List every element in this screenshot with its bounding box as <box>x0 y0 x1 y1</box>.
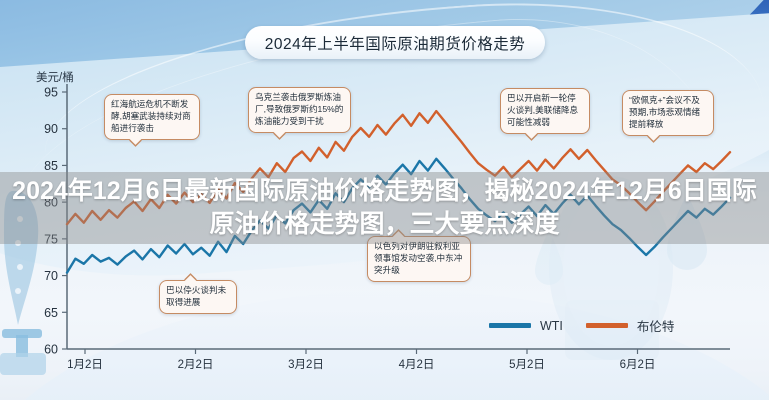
svg-text:95: 95 <box>44 86 58 100</box>
annotation-text: 巴以开启新一轮停火谈判,美联储降息可能性减弱 <box>507 93 578 127</box>
svg-text:60: 60 <box>44 343 58 357</box>
svg-text:70: 70 <box>44 269 58 283</box>
svg-text:4月2日: 4月2日 <box>399 359 435 371</box>
annotation-text: 以色列对伊朗驻叙利亚领事馆发动空袭,中东冲突升级 <box>374 241 462 275</box>
svg-text:6月2日: 6月2日 <box>620 359 656 371</box>
svg-text:90: 90 <box>44 122 58 136</box>
svg-text:5月2日: 5月2日 <box>509 359 545 371</box>
chart-legend: WTI 布伦特 <box>489 316 688 335</box>
overlay-headline: 2024年12月6日最新国际原油价格走势图，揭秘2024年12月6日国际原油价格… <box>0 172 769 244</box>
legend-swatch-wti <box>489 323 531 328</box>
svg-text:65: 65 <box>44 306 58 320</box>
annotation-text: 乌克兰袭击俄罗斯炼油厂,导致俄罗斯约15%的炼油能力受到干扰 <box>255 92 343 126</box>
annotation-text: 红海航运危机不断发酵,胡塞武装持续对商船进行袭击 <box>111 99 191 133</box>
annotation-text: “欧佩克+”会议不及预期,市场悲观情绪提前释放 <box>629 95 700 129</box>
annotation-text: 巴以停火谈判未取得进展 <box>166 285 226 307</box>
screenshot-root: 2024年上半年国际原油期货价格走势 美元/桶 6065707580859095… <box>0 0 769 400</box>
annotation-opec-meeting: “欧佩克+”会议不及预期,市场悲观情绪提前释放 <box>622 90 714 136</box>
svg-text:2月2日: 2月2日 <box>178 359 214 371</box>
legend-label-wti: WTI <box>540 319 563 333</box>
annotation-ceasefire-no-progress: 巴以停火谈判未取得进展 <box>159 280 237 314</box>
legend-label-brent: 布伦特 <box>637 316 675 335</box>
annotation-ukraine-refinery-strike: 乌克兰袭击俄罗斯炼油厂,导致俄罗斯约15%的炼油能力受到干扰 <box>248 87 351 133</box>
legend-swatch-brent <box>586 323 628 328</box>
svg-text:85: 85 <box>44 159 58 173</box>
annotation-ceasefire-talks-fed: 巴以开启新一轮停火谈判,美联储降息可能性减弱 <box>500 88 590 134</box>
svg-text:3月2日: 3月2日 <box>288 359 324 371</box>
annotation-red-sea-crisis: 红海航运危机不断发酵,胡塞武装持续对商船进行袭击 <box>104 94 200 140</box>
svg-text:1月2日: 1月2日 <box>67 359 103 371</box>
